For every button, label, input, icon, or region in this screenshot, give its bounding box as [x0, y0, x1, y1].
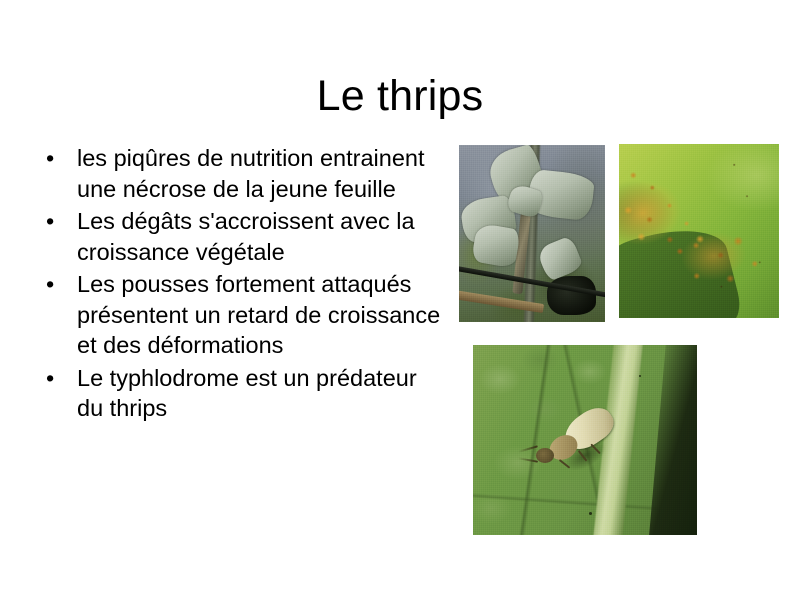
thrips-insect-photo: Gros plan d'un thrips adulte beige clair… [473, 345, 697, 535]
bullet-point-icon: • [46, 269, 54, 300]
page-title: Le thrips [0, 73, 800, 120]
list-item: • Les pousses fortement attaqués présent… [38, 269, 448, 361]
list-item-text: Les dégâts s'accroissent avec la croissa… [77, 206, 448, 267]
bullet-point-icon: • [46, 363, 54, 394]
list-item-text: Le typhlodrome est un prédateur du thrip… [77, 363, 448, 424]
list-item: • Le typhlodrome est un prédateur du thr… [38, 363, 448, 424]
bullet-point-icon: • [46, 206, 54, 237]
photo-grain [459, 145, 605, 322]
bullet-list: • les piqûres de nutrition entrainent un… [38, 143, 448, 426]
slide: Le thrips • les piqûres de nutrition ent… [0, 0, 800, 600]
photo-grain [619, 144, 779, 318]
photo-grain [473, 345, 697, 535]
list-item-text: Les pousses fortement attaqués présenten… [77, 269, 448, 361]
leaf-lesions-photo: Gros plan d'une feuille verte portant de… [619, 144, 779, 318]
bullet-point-icon: • [46, 143, 54, 174]
list-item-text: les piqûres de nutrition entrainent une … [77, 143, 448, 204]
list-item: • les piqûres de nutrition entrainent un… [38, 143, 448, 204]
list-item: • Les dégâts s'accroissent avec la crois… [38, 206, 448, 267]
young-shoot-photo: Photographie d'un jeune rameau de vigne … [459, 145, 605, 322]
